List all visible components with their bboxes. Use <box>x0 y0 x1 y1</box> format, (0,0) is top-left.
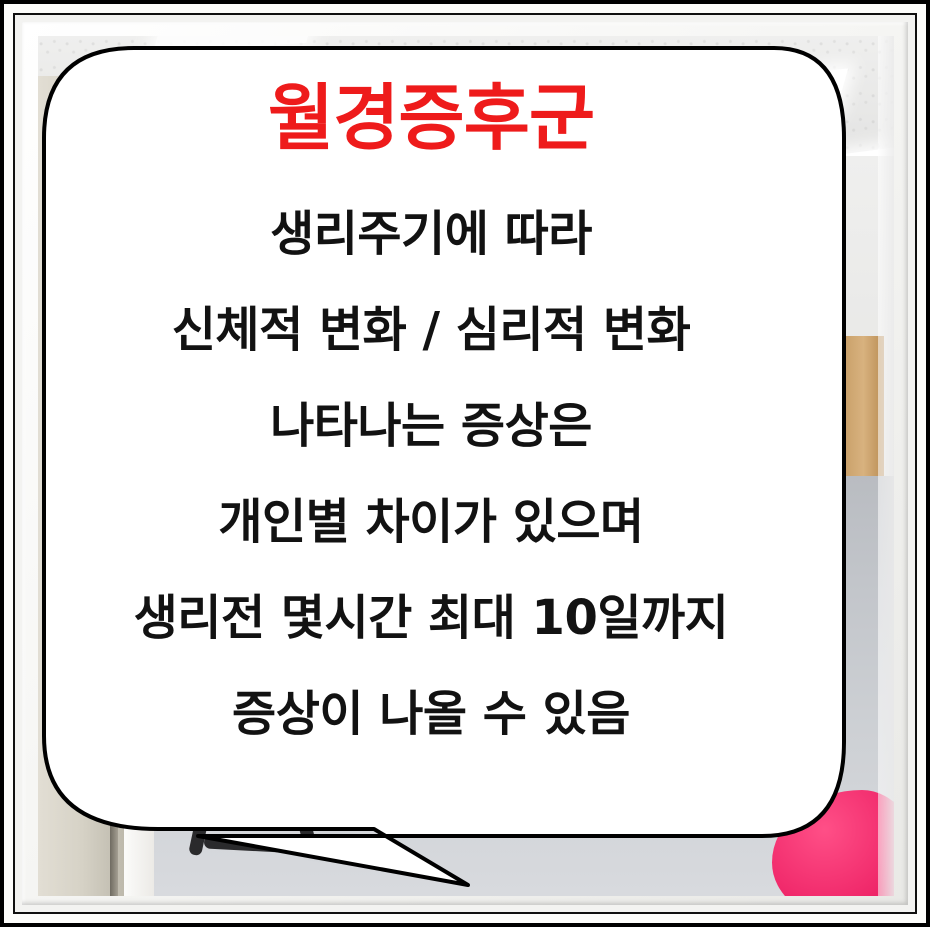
framed-poster: 월경증후군 생리주기에 따라 신체적 변화 / 심리적 변화 나타나는 증상은 … <box>0 0 930 927</box>
chair-cross-bar <box>204 835 303 853</box>
page-title: 월경증후군 <box>46 80 816 158</box>
chair-leg <box>284 764 317 851</box>
body-line-3: 나타나는 증상은 <box>46 402 816 450</box>
ceiling-fixture <box>628 46 662 68</box>
body-line-5: 생리전 몇시간 최대 10일까지 <box>46 594 816 642</box>
chair-legs <box>168 754 468 884</box>
body-line-6: 증상이 나올 수 있음 <box>46 690 816 738</box>
body-line-4: 개인별 차이가 있으며 <box>46 498 816 546</box>
bubble-text-block: 월경증후군 생리주기에 따라 신체적 변화 / 심리적 변화 나타나는 증상은 … <box>46 80 816 738</box>
right-wall-strip <box>878 36 894 896</box>
body-line-1: 생리주기에 따라 <box>46 210 816 258</box>
body-line-2: 신체적 변화 / 심리적 변화 <box>46 306 816 354</box>
